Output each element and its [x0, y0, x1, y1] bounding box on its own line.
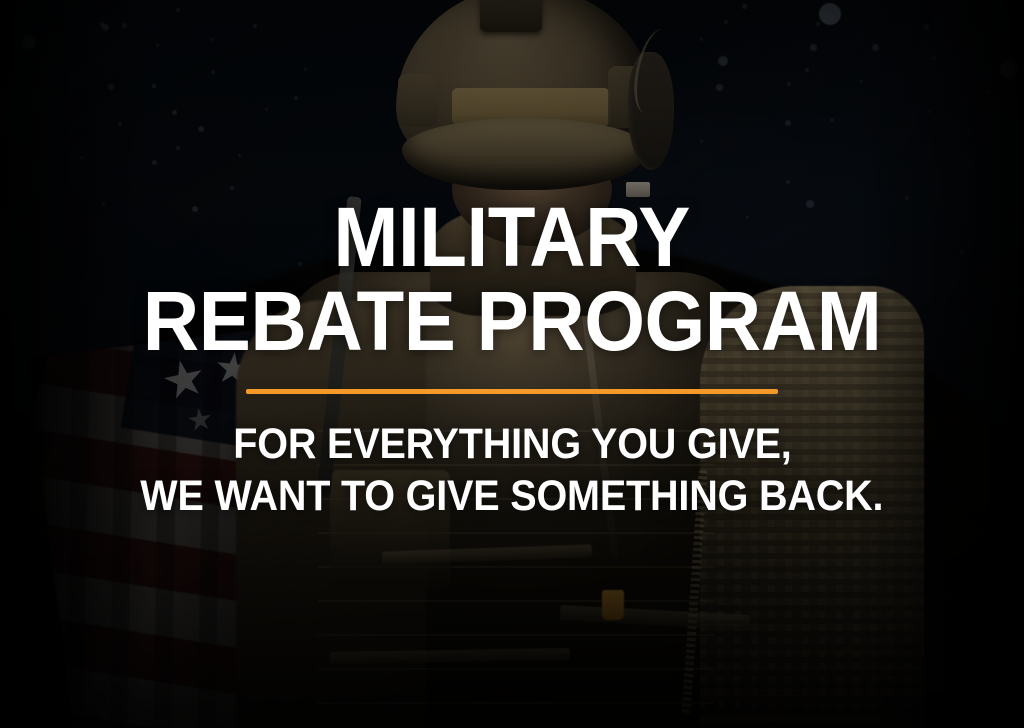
banner-content: MILITARY REBATE PROGRAM FOR EVERYTHING Y… — [0, 0, 1024, 728]
headline-line-1: MILITARY — [334, 196, 690, 278]
subhead-line-1: FOR EVERYTHING YOU GIVE, — [233, 418, 791, 470]
military-rebate-banner: MILITARY REBATE PROGRAM FOR EVERYTHING Y… — [0, 0, 1024, 728]
headline-line-2: REBATE PROGRAM — [143, 280, 882, 362]
orange-divider-rule — [246, 389, 778, 394]
subhead-line-2: WE WANT TO GIVE SOMETHING BACK. — [140, 470, 883, 522]
